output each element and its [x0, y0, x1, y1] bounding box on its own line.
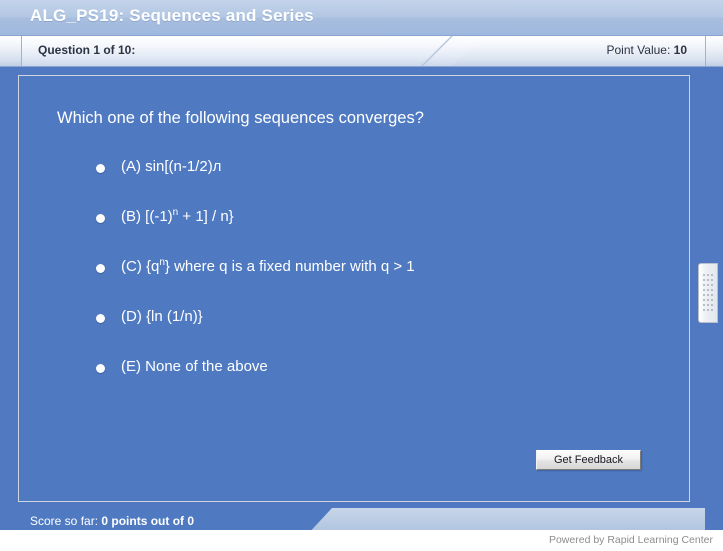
point-value-number: 10 [674, 43, 687, 57]
score-prefix: Score so far: [30, 514, 101, 528]
option-label-d[interactable]: (D) {ln (1/n)} [121, 308, 203, 325]
panel-resize-grip-icon[interactable] [698, 263, 718, 323]
option-row-d[interactable]: (D) {ln (1/n)} [19, 304, 689, 354]
powered-by-label: Powered by Rapid Learning Center [549, 534, 713, 546]
option-row-c[interactable]: (C) {qn} where q is a fixed number with … [19, 254, 689, 304]
question-counter-label: Question 1 of 10: [38, 43, 135, 57]
content-body: Which one of the following sequences con… [0, 67, 723, 530]
answer-options-list: (A) sin[(n-1/2)л (B) [(-1)n + 1] / n} (C… [19, 154, 689, 404]
option-label-b[interactable]: (B) [(-1)n + 1] / n} [121, 208, 234, 225]
bullet-point-icon [96, 314, 105, 323]
footer-bar: Powered by Rapid Learning Center [0, 530, 723, 551]
grip-dots-icon [703, 274, 715, 314]
header-right-cap [705, 36, 723, 66]
score-text: Score so far: 0 points out of 0 [30, 514, 194, 528]
bullet-point-icon [96, 164, 105, 173]
point-value-label: Point Value: [606, 43, 673, 57]
bullet-point-icon [96, 214, 105, 223]
quiz-application-window: ALG_PS19: Sequences and Series Question … [0, 0, 723, 551]
option-label-e[interactable]: (E) None of the above [121, 358, 268, 375]
option-label-a[interactable]: (A) sin[(n-1/2)л [121, 158, 221, 175]
score-value: 0 points out of 0 [101, 514, 194, 528]
question-prompt: Which one of the following sequences con… [57, 109, 424, 128]
bullet-point-icon [96, 264, 105, 273]
option-label-c[interactable]: (C) {qn} where q is a fixed number with … [121, 258, 415, 275]
get-feedback-button[interactable]: Get Feedback [536, 450, 641, 470]
option-row-b[interactable]: (B) [(-1)n + 1] / n} [19, 204, 689, 254]
title-bar: ALG_PS19: Sequences and Series [0, 0, 723, 36]
header-left-cap [0, 36, 22, 66]
page-title: ALG_PS19: Sequences and Series [30, 6, 314, 26]
point-value-group: Point Value: 10 [606, 43, 687, 57]
question-panel: Which one of the following sequences con… [18, 75, 690, 502]
question-header-bar: Question 1 of 10: Point Value: 10 [0, 36, 723, 67]
question-panel-inner: Which one of the following sequences con… [19, 76, 689, 501]
option-row-a[interactable]: (A) sin[(n-1/2)л [19, 154, 689, 204]
option-row-e[interactable]: (E) None of the above [19, 354, 689, 404]
bullet-point-icon [96, 364, 105, 373]
